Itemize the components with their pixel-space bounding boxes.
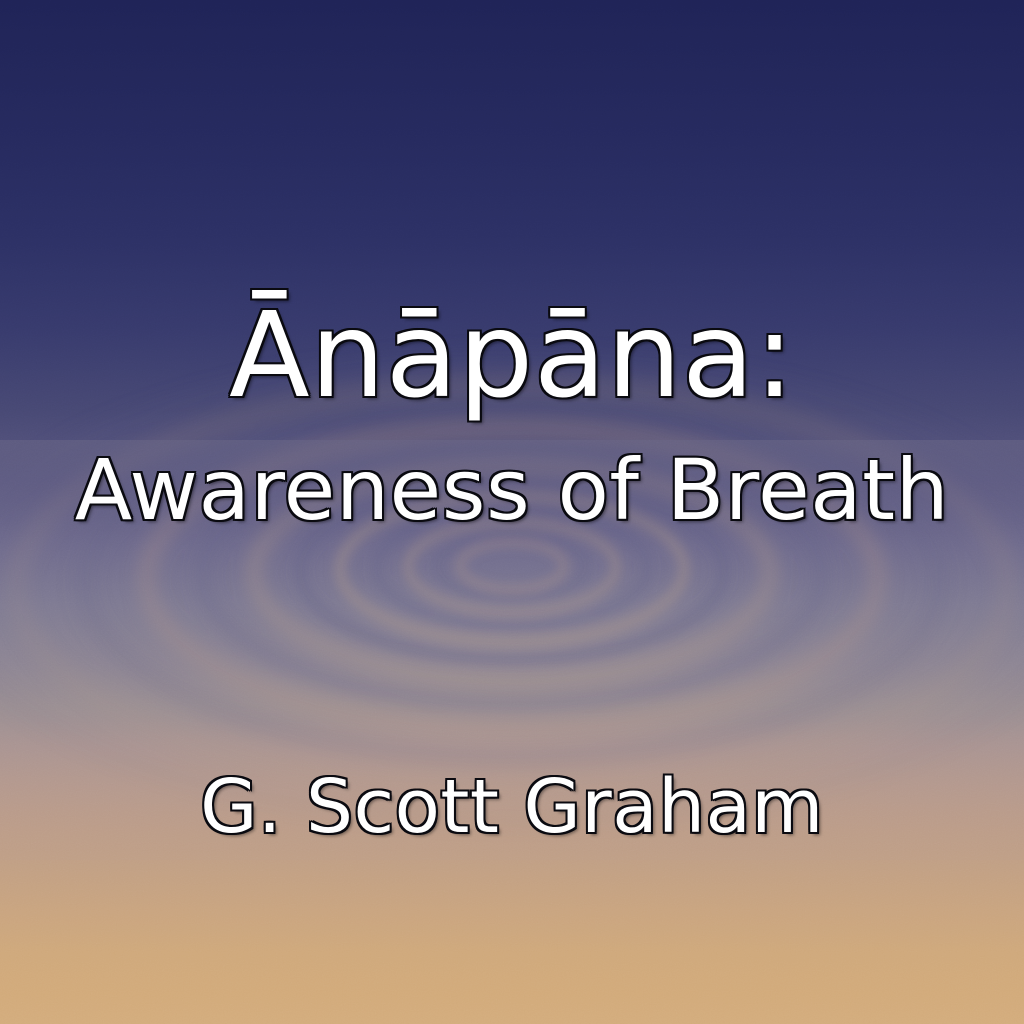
cover-title: Ānāpāna: bbox=[0, 296, 1024, 414]
book-cover: Ānāpāna: Awareness of Breath G. Scott Gr… bbox=[0, 0, 1024, 1024]
cover-subtitle: Awareness of Breath bbox=[0, 448, 1024, 532]
cover-text-layer: Ānāpāna: Awareness of Breath G. Scott Gr… bbox=[0, 0, 1024, 1024]
cover-author: G. Scott Graham bbox=[0, 770, 1024, 844]
